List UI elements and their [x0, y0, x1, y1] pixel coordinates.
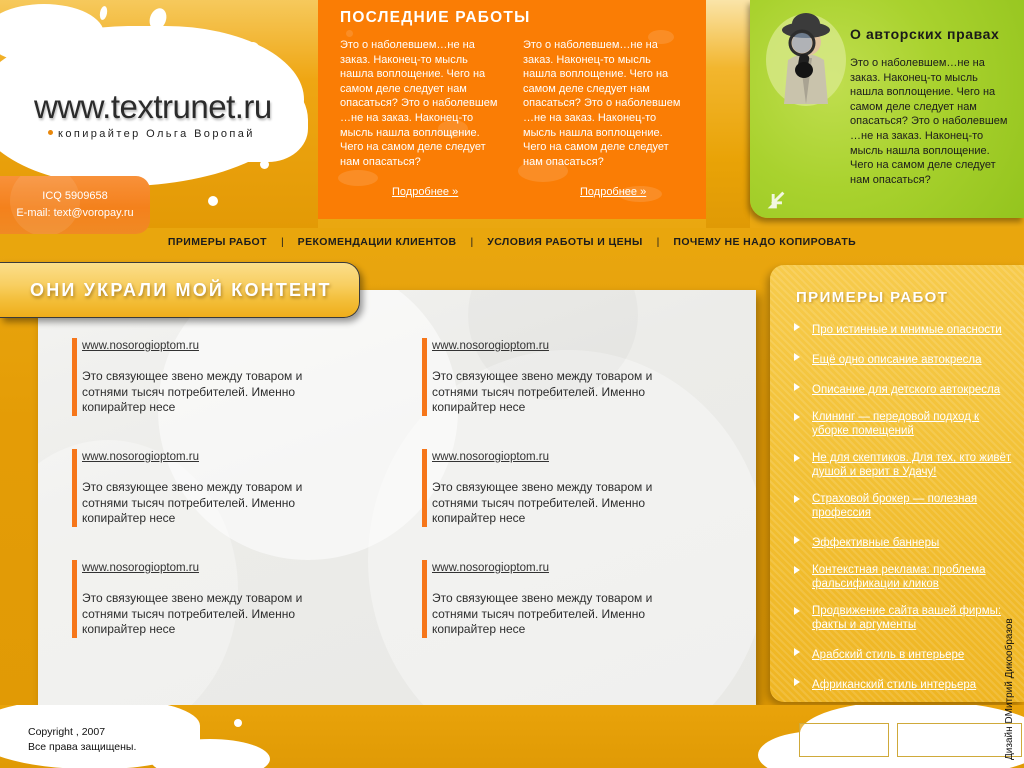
item-text: Это связующее звено между товаром и сотн… — [432, 591, 682, 638]
list-item: www.nosorogioptom.ru Это связующее звено… — [60, 447, 390, 527]
item-text: Это связующее звено между товаром и сотн… — [82, 369, 332, 416]
bullet-icon — [48, 130, 53, 135]
section-title-tab: ОНИ УКРАЛИ МОЙ КОНТЕНТ — [0, 262, 360, 318]
latest-works-more-link-2[interactable]: Подробнее » — [580, 186, 646, 198]
bullet-triangle-icon — [794, 607, 800, 615]
bullet-triangle-icon — [794, 495, 800, 503]
contact-box: ICQ 5909658 E-mail: text@voropay.ru — [0, 176, 150, 234]
site-title[interactable]: www.textrunet.ru — [34, 88, 272, 126]
bullet-triangle-icon — [794, 383, 800, 391]
sidebar-item-10[interactable]: Африканский стиль интерьера — [792, 675, 1024, 693]
bullet-triangle-icon — [794, 323, 800, 331]
splash-droplet — [183, 28, 194, 39]
item-accent-bar — [422, 338, 427, 416]
sidebar-link[interactable]: Арабский стиль в интерьере — [812, 648, 964, 662]
splash-droplet — [63, 36, 72, 45]
bullet-triangle-icon — [794, 678, 800, 686]
list-item: www.nosorogioptom.ru Это связующее звено… — [60, 336, 390, 416]
copyright-block-heading: О авторских правах — [850, 26, 999, 42]
item-link[interactable]: www.nosorogioptom.ru — [82, 451, 199, 463]
sidebar-link[interactable]: Эффективные баннеры — [812, 536, 939, 550]
sidebar-link[interactable]: Клининг — передовой подход к уборке поме… — [812, 410, 1017, 438]
sidebar-examples: ПРИМЕРЫ РАБОТ Про истинные и мнимые опас… — [770, 265, 1024, 702]
sidebar-link[interactable]: Контекстная реклама: проблема фальсифика… — [812, 563, 1017, 591]
item-accent-bar — [422, 449, 427, 527]
sidebar-item-5[interactable]: Страховой брокер — полезная профессия — [792, 492, 1024, 521]
sidebar-item-8[interactable]: Продвижение сайта вашей фирмы: факты и а… — [792, 604, 1024, 633]
footer-copyright: Copyright , 2007 Все права защищены. — [28, 725, 136, 755]
main-navigation[interactable]: ПРИМЕРЫ РАБОТ | РЕКОМЕНДАЦИИ КЛИЕНТОВ | … — [0, 228, 1024, 256]
item-link[interactable]: www.nosorogioptom.ru — [432, 451, 549, 463]
main-content-panel: www.nosorogioptom.ru Это связующее звено… — [38, 290, 756, 705]
sidebar-item-6[interactable]: Эффективные баннеры — [792, 533, 1024, 551]
copyright-block-text: Это о наболевшем…не на заказ. Наконец-то… — [850, 56, 1010, 187]
splash-droplet — [99, 5, 108, 20]
nav-item-primery-rabot[interactable]: ПРИМЕРЫ РАБОТ — [168, 236, 267, 248]
copyright-line-2: Все права защищены. — [28, 740, 136, 755]
item-link[interactable]: www.nosorogioptom.ru — [82, 340, 199, 352]
nav-item-usloviya-raboty-i-ceny[interactable]: УСЛОВИЯ РАБОТЫ И ЦЕНЫ — [487, 236, 642, 248]
copyright-line-1: Copyright , 2007 — [28, 725, 136, 740]
latest-works-more-link-1[interactable]: Подробнее » — [392, 186, 458, 198]
latest-works-heading: ПОСЛЕДНИЕ РАБОТЫ — [340, 9, 530, 27]
splash-droplet — [260, 160, 269, 169]
latest-works-text-2: Это о наболевшем…не на заказ. Наконец-то… — [523, 38, 683, 169]
sidebar-heading: ПРИМЕРЫ РАБОТ — [796, 289, 1024, 306]
sidebar-link-list: Про истинные и мнимые опасности Ещё одно… — [792, 320, 1024, 702]
site-subtitle: копирайтер Ольга Воропай — [48, 128, 255, 140]
item-accent-bar — [72, 560, 77, 638]
nav-separator: | — [643, 236, 674, 248]
footer-droplet — [234, 719, 242, 727]
sidebar-item-1[interactable]: Ещё одно описание автокресла — [792, 350, 1024, 368]
latest-works-text-1: Это о наболевшем…не на заказ. Наконец-то… — [340, 38, 500, 169]
sidebar-link[interactable]: Продвижение сайта вашей фирмы: факты и а… — [812, 604, 1017, 632]
list-item: www.nosorogioptom.ru Это связующее звено… — [60, 558, 390, 638]
sidebar-link[interactable]: Не для скептиков. Для тех, кто живёт душ… — [812, 451, 1017, 479]
detective-icon — [764, 8, 848, 108]
item-accent-bar — [72, 449, 77, 527]
sidebar-link[interactable]: Про истинные и мнимые опасности — [812, 323, 1002, 337]
sidebar-link[interactable]: Страховой брокер — полезная профессия — [812, 492, 1017, 520]
header-divider — [706, 0, 750, 228]
sidebar-link[interactable]: Описание для детского автокресла — [812, 383, 1000, 397]
item-link[interactable]: www.nosorogioptom.ru — [432, 340, 549, 352]
sidebar-item-9[interactable]: Арабский стиль в интерьере — [792, 645, 1024, 663]
footer-droplet — [190, 761, 197, 768]
nav-item-rekomendacii-klientov[interactable]: РЕКОМЕНДАЦИИ КЛИЕНТОВ — [298, 236, 457, 248]
item-text: Это связующее звено между товаром и сотн… — [432, 480, 682, 527]
sidebar-item-3[interactable]: Клининг — передовой подход к уборке поме… — [792, 410, 1024, 439]
splash-droplet — [247, 42, 259, 54]
texture-fleck — [346, 30, 353, 37]
texture-fleck — [338, 170, 378, 186]
sidebar-link[interactable]: Ещё одно описание автокресла — [812, 353, 982, 367]
bullet-triangle-icon — [794, 353, 800, 361]
item-link[interactable]: www.nosorogioptom.ru — [432, 562, 549, 574]
email-value[interactable]: E-mail: text@voropay.ru — [16, 205, 133, 222]
nav-item-pochemu-ne-nado-kopirovat[interactable]: ПОЧЕМУ НЕ НАДО КОПИРОВАТЬ — [673, 236, 856, 248]
site-header: www.textrunet.ru копирайтер Ольга Воропа… — [0, 0, 1024, 228]
sidebar-item-7[interactable]: Контекстная реклама: проблема фальсифика… — [792, 563, 1024, 592]
item-text: Это связующее звено между товаром и сотн… — [82, 591, 332, 638]
item-accent-bar — [72, 338, 77, 416]
page-title: ОНИ УКРАЛИ МОЙ КОНТЕНТ — [30, 280, 332, 301]
copyright-info-block: О авторских правах Это о наболевшем…не н… — [750, 0, 1024, 218]
sidebar-item-2[interactable]: Описание для детского автокресла — [792, 380, 1024, 398]
footer-box-left[interactable] — [799, 723, 889, 757]
item-text: Это связующее звено между товаром и сотн… — [82, 480, 332, 527]
item-text: Это связующее звено между товаром и сотн… — [432, 369, 682, 416]
design-credit: Дизайн DМитрий Дикообразов — [1004, 740, 1015, 760]
list-item: www.nosorogioptom.ru Это связующее звено… — [410, 336, 740, 416]
bullet-triangle-icon — [794, 454, 800, 462]
list-item: www.nosorogioptom.ru Это связующее звено… — [410, 558, 740, 638]
sidebar-item-4[interactable]: Не для скептиков. Для тех, кто живёт душ… — [792, 451, 1024, 480]
bullet-triangle-icon — [794, 648, 800, 656]
bullet-triangle-icon — [794, 413, 800, 421]
splash-droplet — [208, 196, 218, 206]
nav-separator: | — [267, 236, 298, 248]
item-link[interactable]: www.nosorogioptom.ru — [82, 562, 199, 574]
sidebar-link[interactable]: Африканский стиль интерьера — [812, 678, 976, 692]
site-subtitle-text: копирайтер Ольга Воропай — [58, 128, 255, 140]
page-root: www.textrunet.ru копирайтер Ольга Воропа… — [0, 0, 1024, 768]
list-item: www.nosorogioptom.ru Это связующее звено… — [410, 447, 740, 527]
bullet-triangle-icon — [794, 566, 800, 574]
sidebar-item-0[interactable]: Про истинные и мнимые опасности — [792, 320, 1024, 338]
splash-droplet — [21, 46, 29, 54]
bullet-triangle-icon — [794, 536, 800, 544]
item-accent-bar — [422, 560, 427, 638]
latest-works-block: ПОСЛЕДНИЕ РАБОТЫ Это о наболевшем…не на … — [318, 0, 706, 219]
icq-value: ICQ 5909658 — [42, 188, 107, 205]
arrow-down-left-icon[interactable] — [764, 190, 786, 212]
nav-separator: | — [457, 236, 488, 248]
